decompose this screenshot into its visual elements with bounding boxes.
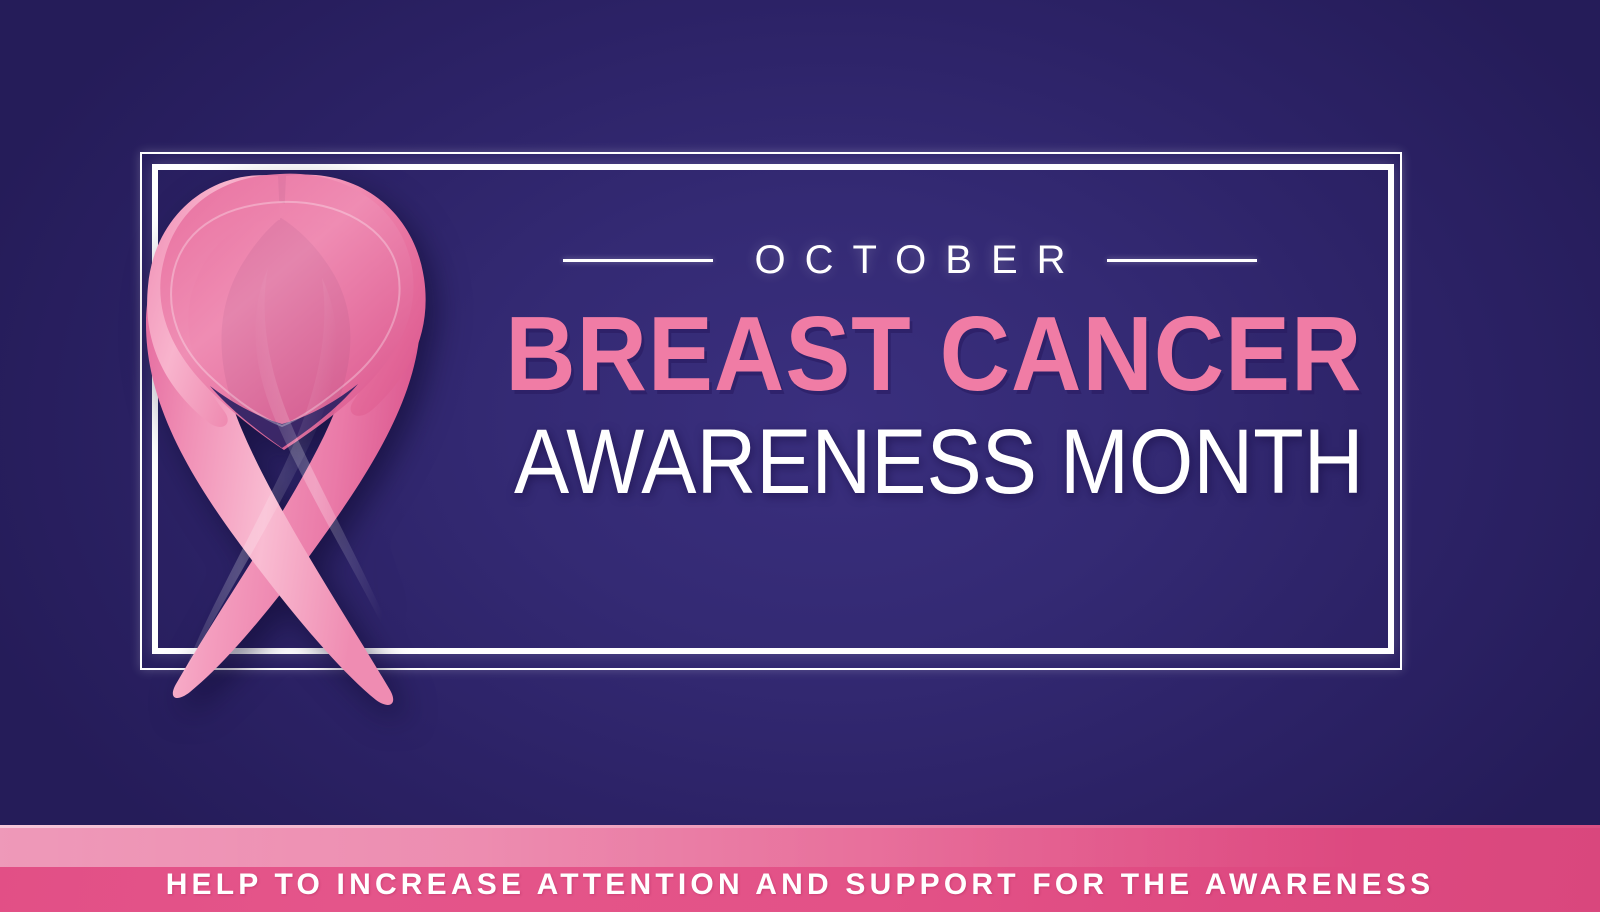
eyebrow-row: OCTOBER [470,230,1350,290]
rule-right [1107,259,1257,262]
poster-canvas: OCTOBER BREAST CANCER AWARENESS MONTH [0,0,1600,912]
banner-gloss [0,825,1600,867]
banner-tagline: HELP TO INCREASE ATTENTION AND SUPPORT F… [0,868,1600,902]
text-block: OCTOBER BREAST CANCER AWARENESS MONTH [470,230,1350,511]
bottom-banner: HELP TO INCREASE ATTENTION AND SUPPORT F… [0,825,1600,912]
rule-left [563,259,713,262]
eyebrow-month: OCTOBER [735,238,1084,283]
subheadline-title: AWARENESS MONTH [514,414,1306,511]
headline-title: BREAST CANCER [505,300,1315,408]
pink-awareness-ribbon-icon [72,118,492,708]
